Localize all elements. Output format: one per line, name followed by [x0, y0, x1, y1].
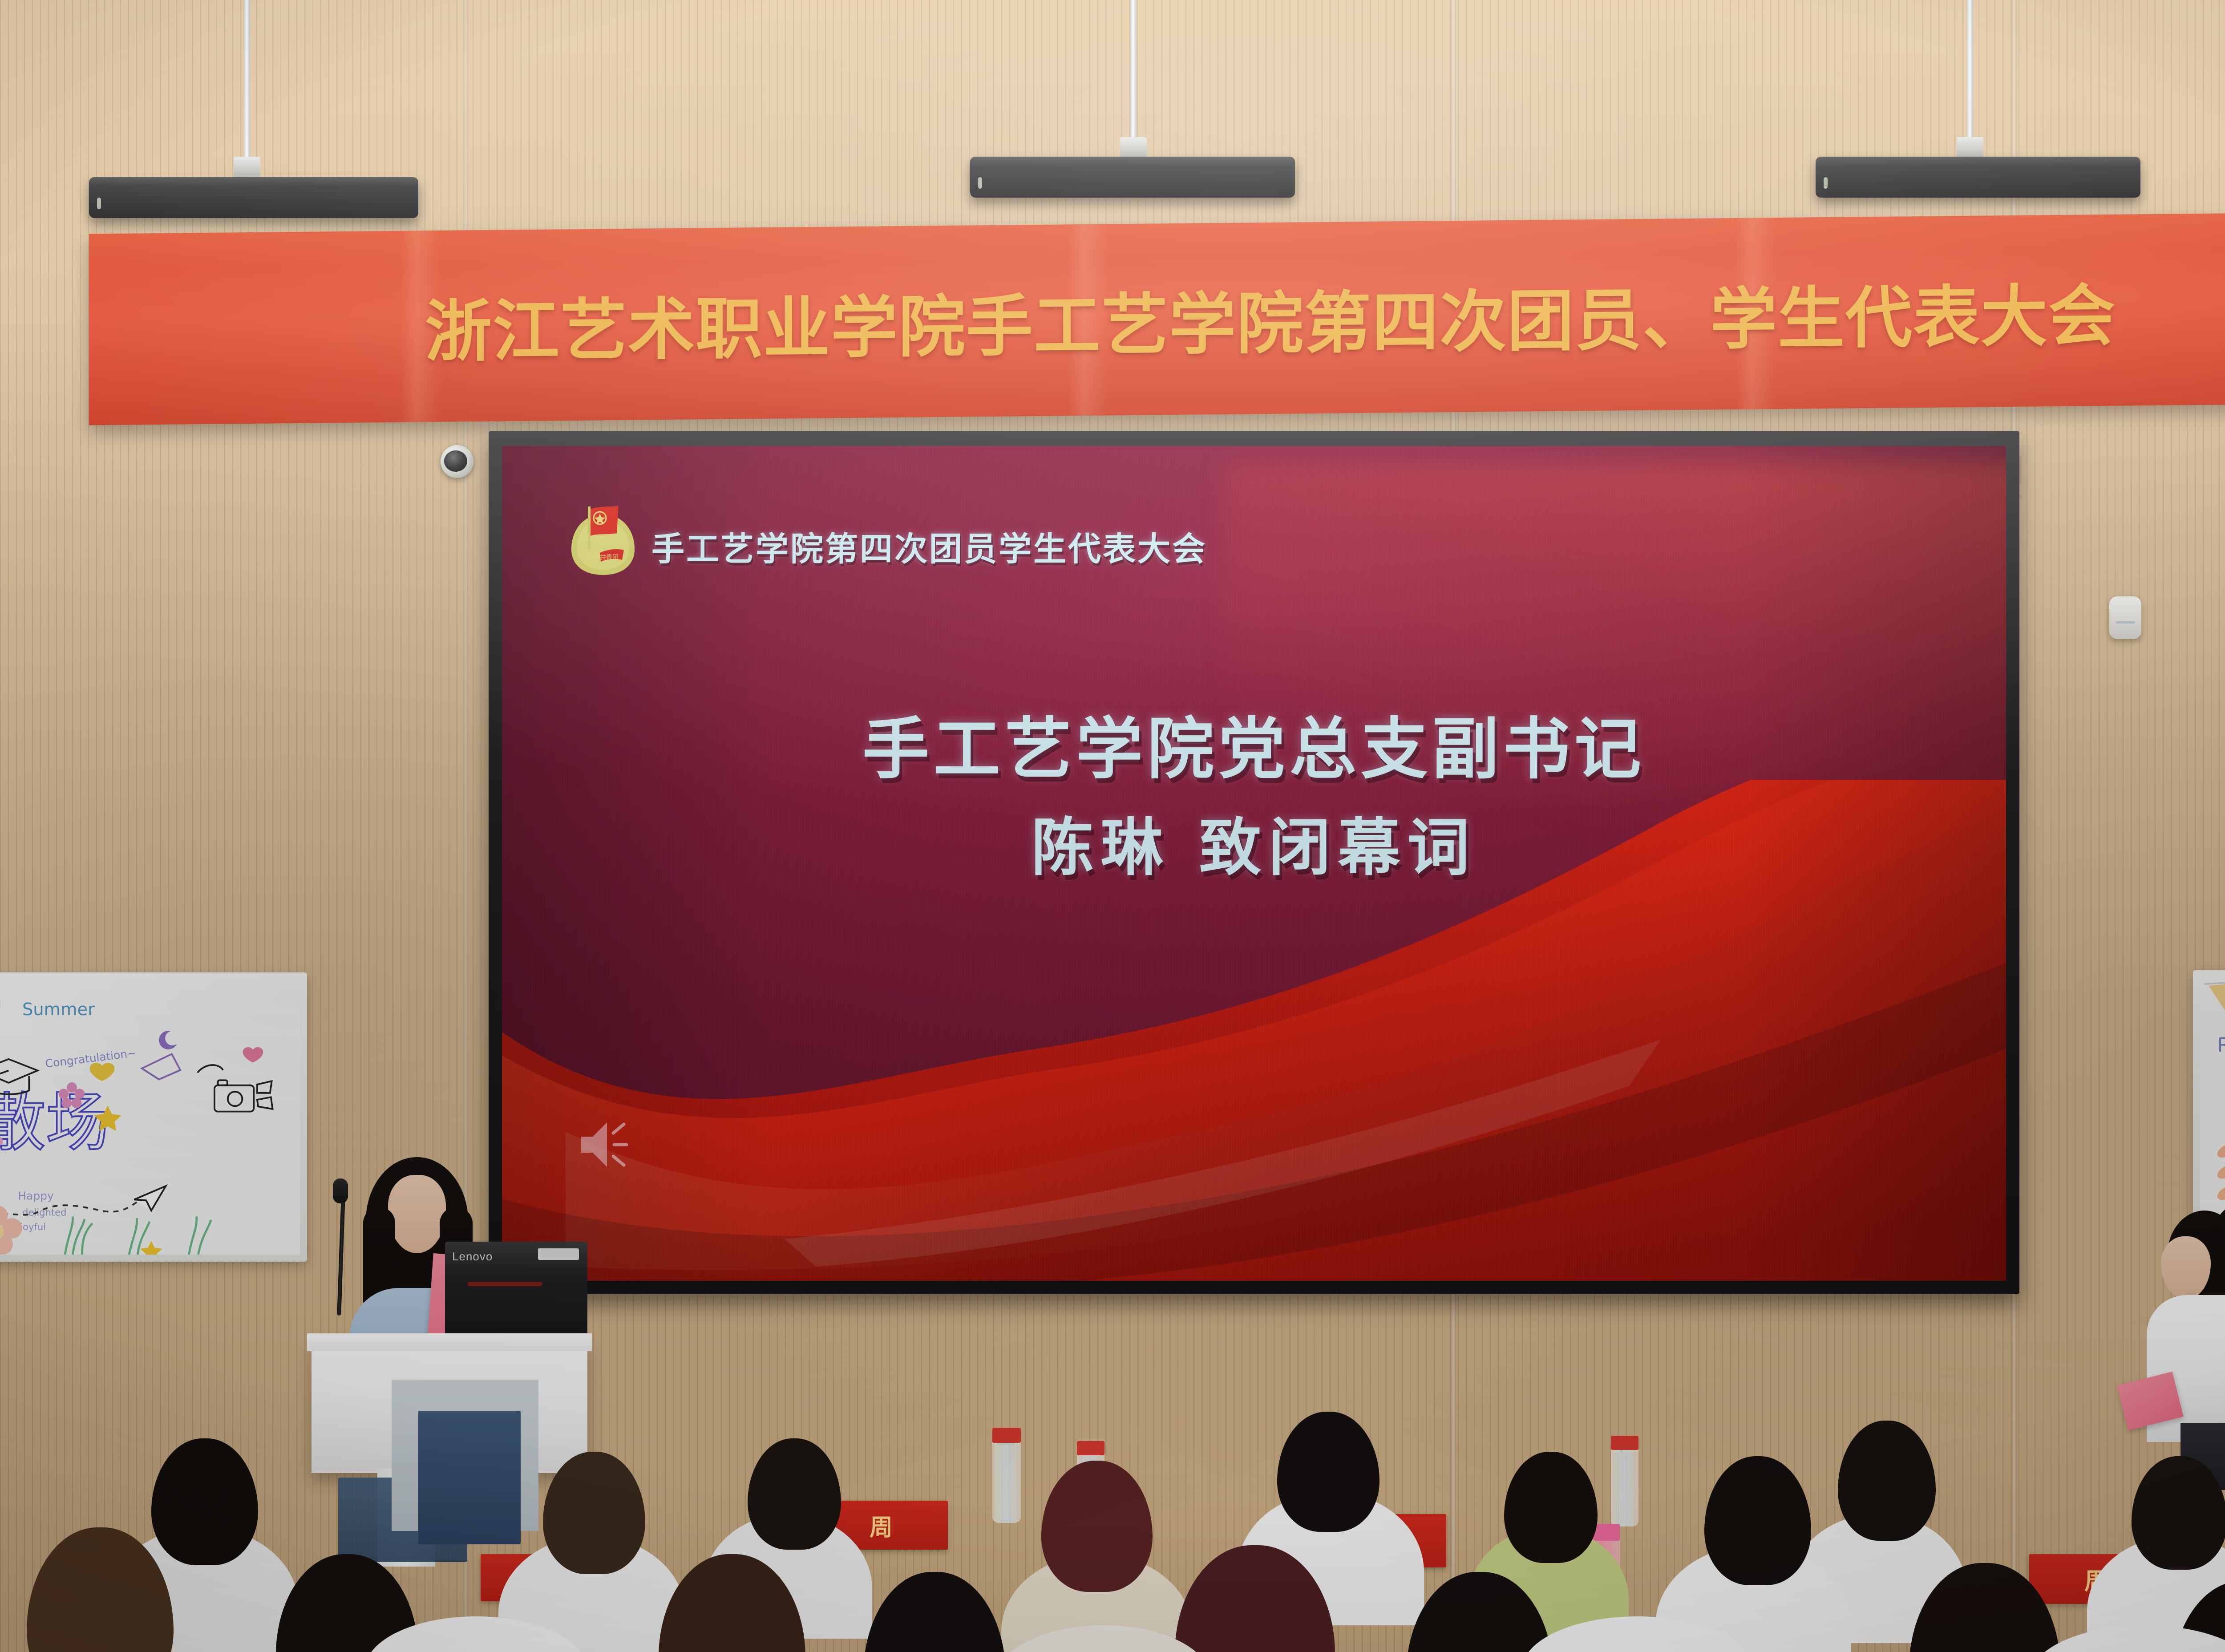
conference-hall-photo: 浙江艺术职业学院手工艺学院第四次团员、学生代表大会 [0, 0, 2225, 1652]
microphone-capsule [333, 1178, 348, 1203]
svg-text:joyful: joyful [20, 1221, 46, 1232]
audience-head [1838, 1421, 1936, 1541]
monitor-light-strip [468, 1282, 542, 1286]
monitor-brand-label: Lenovo [452, 1250, 493, 1263]
screen-title-line-1: 手工艺学院党总支副书记 [502, 695, 2006, 792]
audience-head [2132, 1456, 2225, 1570]
water-bottle [1611, 1446, 1638, 1526]
audience-head [543, 1452, 645, 1574]
dome-camera-icon [441, 445, 473, 478]
svg-text:REC: REC [2217, 1034, 2225, 1057]
ceiling-speaker [970, 157, 1295, 198]
left-whiteboard: ing Summer Congratulation~ Happy delight… [0, 972, 307, 1262]
water-bottle [992, 1438, 1021, 1523]
audience-head [1504, 1452, 1598, 1563]
svg-text:Happy: Happy [18, 1190, 53, 1203]
svg-text:散场: 散场 [0, 1085, 110, 1159]
speaker-mount [1957, 137, 1983, 158]
audience-head [1041, 1461, 1153, 1592]
ceiling-speaker [1816, 157, 2140, 198]
svg-text:中国共青团: 中国共青团 [587, 554, 619, 561]
bottle-cap [992, 1428, 1021, 1443]
svg-text:Summer: Summer [22, 1000, 95, 1020]
communist-youth-league-emblem-icon: 中国共青团 [570, 503, 636, 579]
audience-head [151, 1438, 258, 1565]
audience-head [1277, 1412, 1379, 1532]
screen-title-line-2: 陈琳 致闭幕词 [502, 798, 2006, 887]
bottle-cap [1611, 1436, 1638, 1450]
speaker-hanger-rod [1967, 0, 1973, 154]
audience-head [863, 1572, 1006, 1652]
audience: 周 周 周 周 [0, 1305, 2225, 1652]
monitor-asset-tag [538, 1248, 579, 1260]
speaker-mount [234, 157, 260, 177]
svg-text:ing: ing [0, 995, 2, 1015]
speaker-hanger-rod [1130, 0, 1137, 154]
speaker-mount [1120, 137, 1147, 158]
wifi-access-point-icon [2109, 596, 2141, 639]
screen-heading: 手工艺学院第四次团员学生代表大会 [651, 522, 1207, 570]
audience-head [1704, 1456, 1811, 1585]
projection-screen-frame: 中国共青团 手工艺学院第四次团员学生代表大会 手工艺学院党总支副书记 陈琳 致闭… [489, 431, 2019, 1294]
event-banner: 浙江艺术职业学院手工艺学院第四次团员、学生代表大会 [89, 211, 2225, 425]
audience-head [748, 1438, 841, 1550]
projection-screen: 中国共青团 手工艺学院第四次团员学生代表大会 手工艺学院党总支副书记 陈琳 致闭… [502, 446, 2006, 1281]
speaker-volume-icon[interactable] [578, 1118, 635, 1171]
speaker-hanger-rod [244, 0, 250, 174]
ceiling-speaker [89, 177, 418, 218]
bottle-cap [1077, 1441, 1104, 1455]
